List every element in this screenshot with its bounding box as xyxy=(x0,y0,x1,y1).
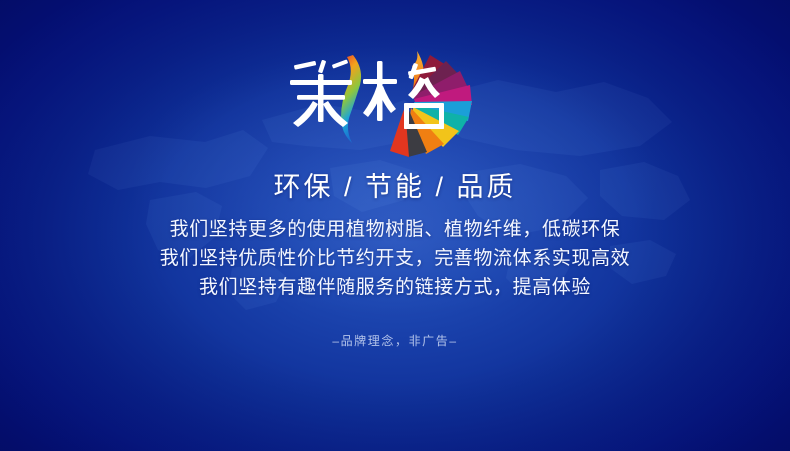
banner-content: 环保 / 节能 / 品质 我们坚持更多的使用植物树脂、植物纤维，低碳环保 我们坚… xyxy=(0,0,790,451)
slogan-list: 我们坚持更多的使用植物树脂、植物纤维，低碳环保 我们坚持优质性价比节约开支，完善… xyxy=(160,220,630,297)
slogan-line: 我们坚持有趣伴随服务的链接方式，提高体验 xyxy=(199,278,591,297)
footer-note: –品牌理念，非广告– xyxy=(332,335,457,347)
brand-logo xyxy=(280,33,510,158)
page-title: 环保 / 节能 / 品质 xyxy=(273,174,516,201)
slogan-line: 我们坚持优质性价比节约开支，完善物流体系实现高效 xyxy=(160,249,630,268)
slogan-line: 我们坚持更多的使用植物树脂、植物纤维，低碳环保 xyxy=(170,220,621,239)
promo-banner: 环保 / 节能 / 品质 我们坚持更多的使用植物树脂、植物纤维，低碳环保 我们坚… xyxy=(0,0,790,451)
